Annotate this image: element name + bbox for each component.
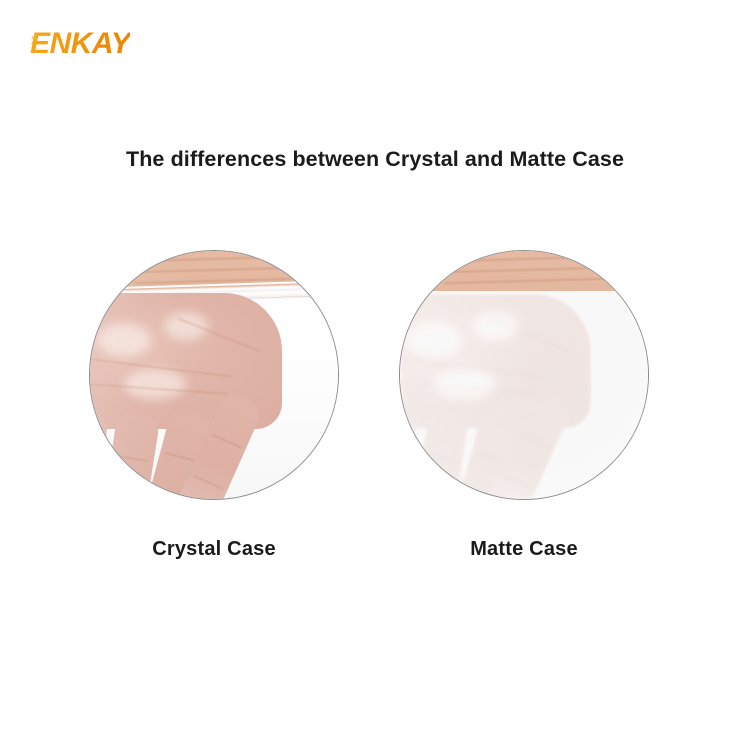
matte-case-photo bbox=[399, 250, 649, 500]
caption-crystal: Crystal Case bbox=[89, 538, 339, 561]
crystal-scene bbox=[90, 251, 338, 499]
brand-logo: ENKAY bbox=[30, 27, 130, 61]
caption-matte: Matte Case bbox=[399, 538, 649, 561]
hand-through-case bbox=[90, 293, 338, 499]
spark-icon bbox=[29, 32, 40, 45]
comparison-item-matte: Matte Case bbox=[399, 250, 651, 500]
crystal-case-photo bbox=[89, 250, 339, 500]
page-title: The differences between Crystal and Matt… bbox=[0, 147, 750, 173]
brand-name: ENKAY bbox=[30, 29, 130, 59]
product-comparison-page: ENKAY The differences between Crystal an… bbox=[0, 0, 750, 750]
comparison-row: Crystal Case bbox=[0, 250, 750, 570]
matte-scene bbox=[400, 251, 648, 499]
comparison-item-crystal: Crystal Case bbox=[89, 250, 341, 500]
hand-through-case bbox=[400, 293, 648, 499]
